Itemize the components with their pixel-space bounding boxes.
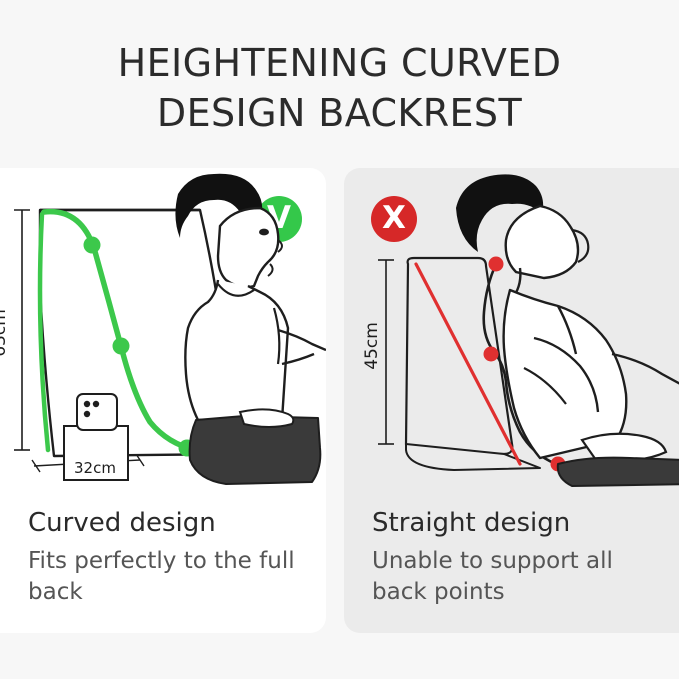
caption-straight: Straight design Unable to support all ba… <box>372 506 662 608</box>
caption-curved: Curved design Fits perfectly to the full… <box>28 506 318 608</box>
panel-curved-design: V <box>0 168 326 633</box>
caption-title-straight: Straight design <box>372 506 662 540</box>
caption-body-straight: Unable to support all back points <box>372 546 662 608</box>
height-dimension-line <box>14 210 30 450</box>
title-line-1: HEIGHTENING CURVED <box>0 38 679 88</box>
smartphone-icon <box>77 394 117 430</box>
curved-backrest-illustration <box>0 168 326 498</box>
person-hand-lap <box>240 409 293 427</box>
pressure-point-middle <box>484 347 499 362</box>
width-dimension-label: 32cm <box>74 459 116 477</box>
caption-body-curved: Fits perfectly to the full back <box>28 546 318 608</box>
contact-point-middle <box>113 338 130 355</box>
straight-wedge-illustration <box>344 168 679 498</box>
height-dimension-label: 45cm <box>362 322 382 370</box>
phone-camera-lens-2 <box>84 411 90 417</box>
page-title: HEIGHTENING CURVED DESIGN BACKREST <box>0 38 679 138</box>
panel-straight-design: X <box>344 168 679 633</box>
phone-camera-lens-1 <box>84 401 90 407</box>
infographic-page: HEIGHTENING CURVED DESIGN BACKREST V <box>0 0 679 679</box>
pressure-point-upper <box>489 257 504 272</box>
phone-camera-lens-3 <box>93 401 99 407</box>
title-line-2: DESIGN BACKREST <box>0 88 679 138</box>
person-eye <box>259 229 269 236</box>
height-dimension-label: 63cm <box>0 309 10 357</box>
person-head <box>506 206 578 278</box>
caption-title-curved: Curved design <box>28 506 318 540</box>
person-chin <box>268 264 273 276</box>
person-torso <box>504 290 627 458</box>
contact-point-upper <box>84 237 101 254</box>
person-trousers <box>558 458 679 486</box>
